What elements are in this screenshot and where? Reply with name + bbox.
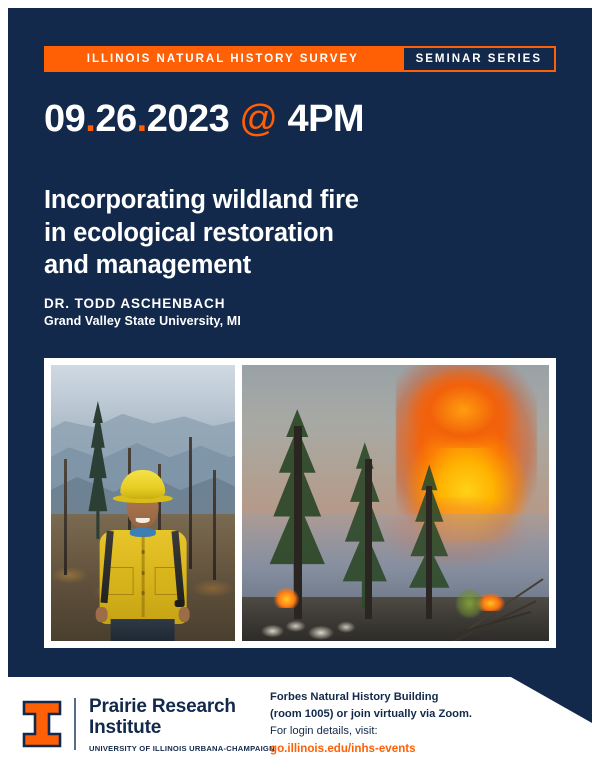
- event-login-note: For login details, visit:: [270, 723, 520, 740]
- event-time: 4PM: [287, 98, 364, 140]
- event-url-link[interactable]: go.illinois.edu/inhs-events: [270, 740, 520, 758]
- event-room-and-zoom: (room 1005) or join virtually via Zoom.: [270, 706, 520, 723]
- pri-name-line-2: Institute: [89, 717, 275, 738]
- photo-firefighter-snag-right: [213, 470, 216, 580]
- date-separator-1: .: [85, 98, 95, 140]
- photo-wildfire-trunk-c: [426, 486, 432, 618]
- block-i-icon: [22, 700, 62, 748]
- photo-wildfire-shrub: [451, 580, 488, 619]
- banner-survey-text: ILLINOIS NATURAL HISTORY SURVEY: [87, 53, 359, 65]
- photo-wildfire: [242, 365, 549, 641]
- photo-wildfire-flame-top: [402, 365, 525, 448]
- date-separator-2: .: [137, 98, 147, 140]
- photo-wildfire-rocks: [260, 608, 364, 641]
- speaker-affiliation: Grand Valley State University, MI: [44, 314, 241, 328]
- firefighter-shirt-placket: [142, 535, 145, 617]
- date-day: 26: [95, 98, 136, 140]
- pri-wordmark: Prairie Research Institute UNIVERSITY OF…: [89, 696, 275, 753]
- photo-frame: [44, 358, 556, 648]
- firefighter-pocket-left: [108, 567, 133, 595]
- banner-survey-label: ILLINOIS NATURAL HISTORY SURVEY: [44, 46, 402, 72]
- speaker-name: DR. TODD ASCHENBACH: [44, 296, 225, 311]
- poster-footer: Prairie Research Institute UNIVERSITY OF…: [0, 677, 600, 777]
- seminar-poster: ILLINOIS NATURAL HISTORY SURVEY SEMINAR …: [0, 0, 600, 777]
- firefighter-hand-right: [178, 607, 190, 622]
- photo-wildfire-surface-flame-left: [273, 583, 301, 608]
- banner-series-text: SEMINAR SERIES: [416, 53, 542, 65]
- title-line-1: Incorporating wildland fire: [44, 184, 524, 217]
- event-building: Forbes Natural History Building: [270, 689, 520, 706]
- title-line-3: and management: [44, 249, 524, 282]
- photo-wildfire-trunk-b: [365, 459, 372, 619]
- pri-name-line-1: Prairie Research: [89, 696, 275, 717]
- photo-firefighter-snag-left: [64, 459, 67, 575]
- firefighter-figure: [90, 470, 197, 641]
- title-line-2: in ecological restoration: [44, 217, 524, 250]
- event-datetime: 09.26.2023 @ 4PM: [44, 100, 364, 138]
- firefighter-pants: [111, 619, 175, 641]
- pri-logo-block: Prairie Research Institute UNIVERSITY OF…: [22, 696, 275, 753]
- event-location-info: Forbes Natural History Building (room 10…: [270, 689, 520, 758]
- date-year: 2023: [147, 98, 230, 140]
- banner-series-label: SEMINAR SERIES: [402, 46, 556, 72]
- seminar-title: Incorporating wildland fire in ecologica…: [44, 184, 524, 282]
- firefighter-hard-hat: [121, 470, 166, 499]
- firefighter-hand-left: [96, 607, 108, 622]
- at-symbol: @: [239, 98, 277, 140]
- firefighter-wristwatch: [175, 600, 185, 607]
- pri-university-line: UNIVERSITY OF ILLINOIS URBANA-CHAMPAIGN: [89, 744, 275, 753]
- logo-divider: [74, 698, 76, 750]
- date-month: 09: [44, 98, 85, 140]
- photo-firefighter: [51, 365, 235, 641]
- header-banner: ILLINOIS NATURAL HISTORY SURVEY SEMINAR …: [44, 46, 556, 72]
